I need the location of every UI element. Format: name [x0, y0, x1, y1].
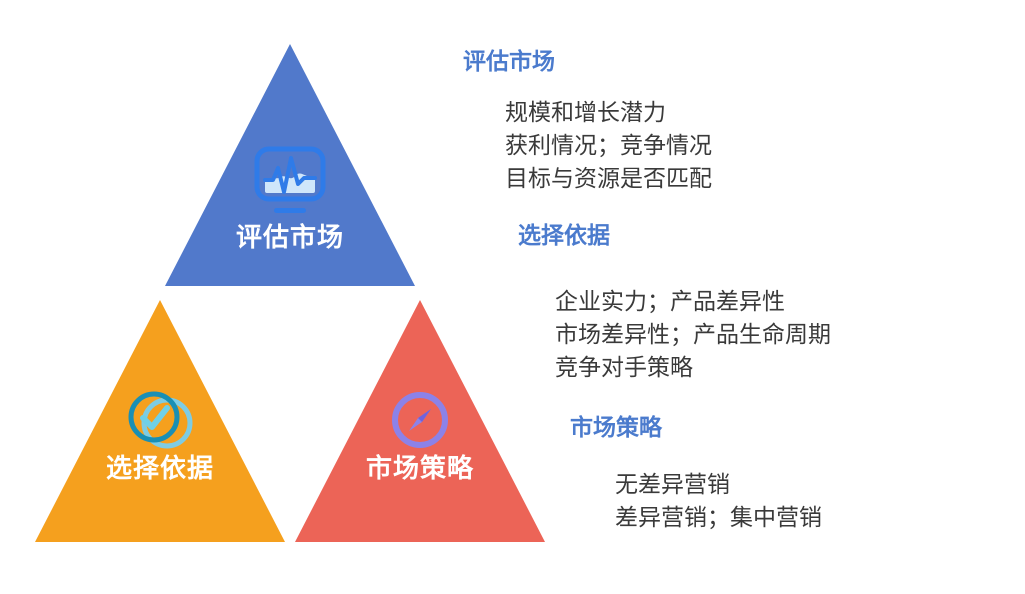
triangle-label-selection-basis: 选择依据 — [35, 455, 285, 481]
triangle-label-evaluate-market: 评估市场 — [165, 224, 415, 250]
diagram-canvas: 评估市场 选择依据 市场策略 评估市场 — [0, 0, 1025, 594]
section-heading-selection-basis: 选择依据 — [518, 224, 610, 247]
section-line: 规模和增长潜力 — [505, 96, 712, 129]
section-line: 无差异营销 — [615, 468, 822, 501]
monitor-chart-icon — [165, 142, 415, 222]
triangle-market-strategy[interactable]: 市场策略 — [295, 300, 545, 542]
section-heading-evaluate-market: 评估市场 — [463, 50, 555, 73]
section-line: 企业实力；产品差异性 — [555, 285, 831, 318]
section-body-selection-basis: 企业实力；产品差异性 市场差异性；产品生命周期 竞争对手策略 — [555, 285, 831, 384]
check-circle-icon — [35, 385, 285, 455]
section-line: 差异营销；集中营销 — [615, 501, 822, 534]
triangle-evaluate-market[interactable]: 评估市场 — [165, 44, 415, 286]
triangle-label-market-strategy: 市场策略 — [295, 455, 545, 481]
compass-icon — [295, 385, 545, 455]
section-line: 获利情况；竞争情况 — [505, 129, 712, 162]
triangle-selection-basis[interactable]: 选择依据 — [35, 300, 285, 542]
section-body-market-strategy: 无差异营销 差异营销；集中营销 — [615, 468, 822, 534]
section-line: 目标与资源是否匹配 — [505, 162, 712, 195]
compass-icon-glyph — [387, 387, 453, 453]
check-circle-icon-glyph — [120, 387, 200, 453]
monitor-chart-icon-glyph — [252, 146, 328, 218]
section-body-evaluate-market: 规模和增长潜力 获利情况；竞争情况 目标与资源是否匹配 — [505, 96, 712, 195]
section-heading-market-strategy: 市场策略 — [570, 416, 662, 439]
section-line: 竞争对手策略 — [555, 351, 831, 384]
section-line: 市场差异性；产品生命周期 — [555, 318, 831, 351]
